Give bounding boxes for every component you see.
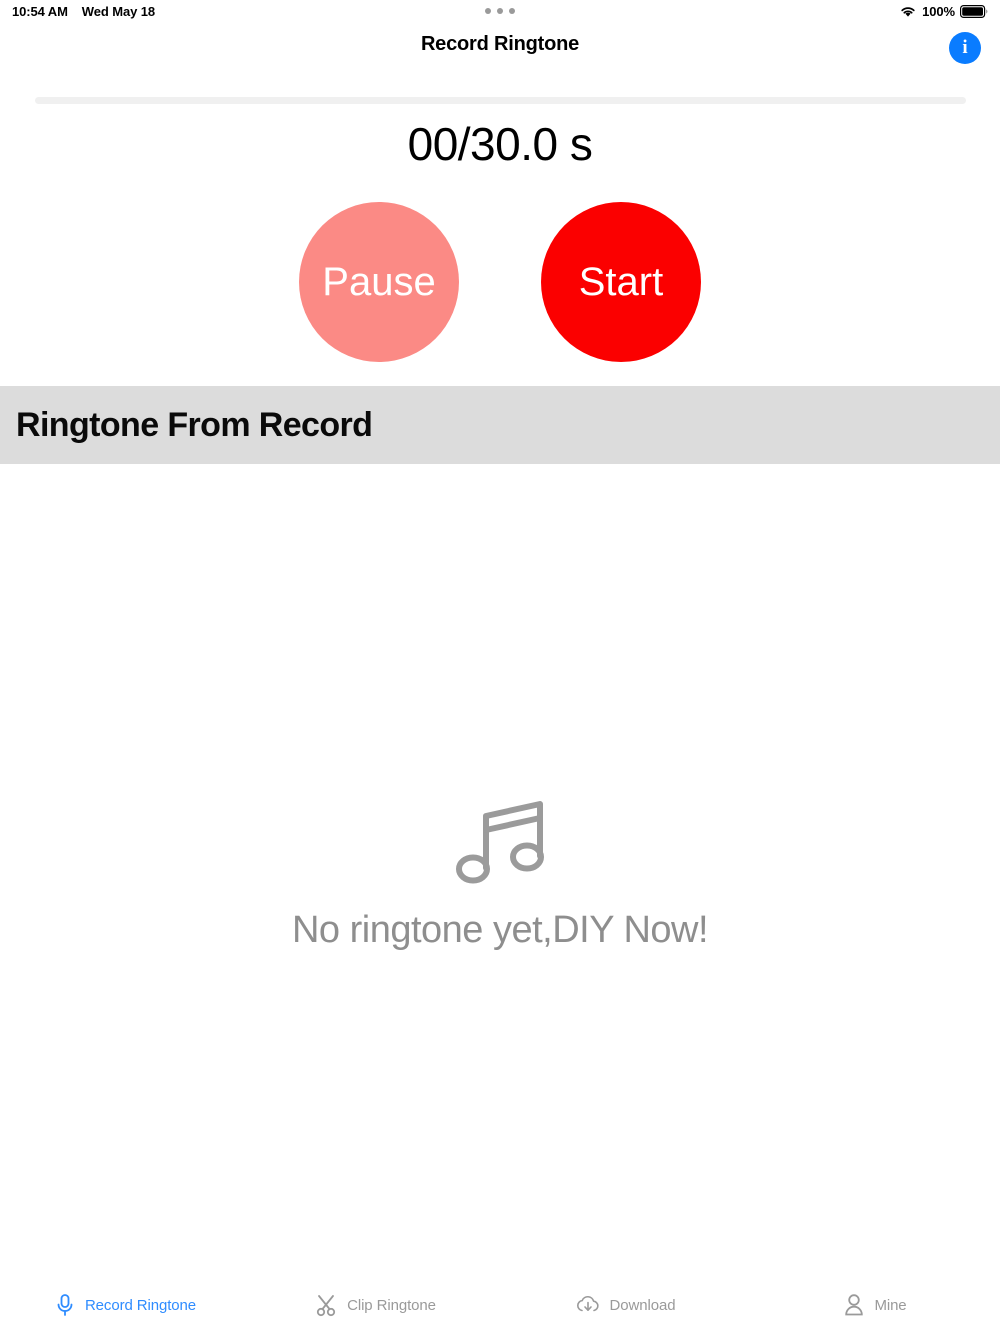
multitask-dot [497,8,503,14]
start-button[interactable]: Start [541,202,701,362]
recording-progress-bar[interactable] [35,97,966,104]
pause-button[interactable]: Pause [299,202,459,362]
wifi-icon [899,5,917,18]
page-title: Record Ringtone [0,33,1000,56]
battery-full-icon [960,5,988,18]
tab-label: Mine [874,1297,906,1314]
recording-timer: 00/30.0 s [0,117,1000,171]
scissors-icon [314,1293,338,1317]
tab-bar: Record Ringtone Clip Ringtone [0,1276,1000,1334]
multitask-dot [509,8,515,14]
person-icon [843,1293,865,1317]
info-button[interactable]: i [949,32,981,64]
tab-record-ringtone[interactable]: Record Ringtone [0,1276,250,1334]
tab-label: Record Ringtone [85,1297,196,1314]
empty-state: No ringtone yet,DIY Now! [0,464,1000,1278]
music-note-icon [450,790,550,895]
status-time: 10:54 AM [12,4,68,19]
multitask-dot [485,8,491,14]
status-bar-left: 10:54 AM Wed May 18 [12,4,155,19]
microphone-icon [54,1293,76,1317]
tab-download[interactable]: Download [500,1276,750,1334]
navigation-bar: Record Ringtone i [0,22,1000,88]
section-header-title: Ringtone From Record [16,406,372,445]
battery-percent-label: 100% [922,4,955,19]
tab-mine[interactable]: Mine [750,1276,1000,1334]
info-icon: i [962,37,967,59]
multitask-dots-icon[interactable] [485,8,515,14]
empty-state-message: No ringtone yet,DIY Now! [292,909,708,952]
tab-clip-ringtone[interactable]: Clip Ringtone [250,1276,500,1334]
record-controls: Pause Start [0,200,1000,364]
tab-label: Download [610,1297,676,1314]
status-bar-right: 100% [899,4,988,19]
status-date: Wed May 18 [82,4,155,19]
section-header: Ringtone From Record [0,386,1000,464]
cloud-download-icon [575,1294,601,1316]
tab-label: Clip Ringtone [347,1297,436,1314]
